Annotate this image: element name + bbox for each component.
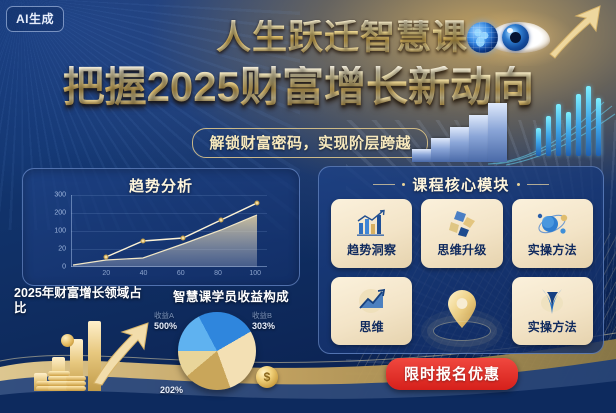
growth-block-title: 2025年财富增长领域占比 [14, 286, 150, 316]
pin-ripple [433, 321, 491, 341]
page-title-line1: 人生跃迁智慧课 [216, 20, 468, 55]
wealth-growth-block: 2025年财富增长领域占比 [0, 282, 160, 413]
module-card-practical-method[interactable]: 实操方法 [512, 199, 593, 268]
pie-block-title: 智慧课学员收益构成 [152, 286, 310, 305]
module-label: 思维升级 [437, 241, 486, 258]
bar-chart-icon [355, 209, 389, 239]
ai-generated-badge: AI生成 [6, 6, 64, 32]
trend-series-paths [71, 195, 267, 267]
trend-arrow-circle-icon [355, 286, 389, 316]
revenue-composition-block: 智慧课学员收益构成 收益A 500% 收益B 303% 202% $ [152, 282, 310, 413]
page-subtitle: 解锁财富密码，实现阶层跨越 [192, 128, 428, 158]
y-tick-label: 20 [58, 246, 66, 253]
poster-canvas: AI生成 [0, 0, 616, 413]
puzzle-pieces-icon [445, 209, 479, 239]
module-label: 趋势洞察 [347, 241, 396, 258]
pie-slice-label: 202% [160, 385, 183, 395]
data-point [255, 200, 260, 205]
ascending-stairs-icon [410, 86, 530, 162]
heading-line-left [373, 184, 395, 185]
heading-dot-right [517, 183, 520, 186]
module-label: 实操方法 [528, 318, 577, 335]
pie-slice-label: 收益A 500% [154, 310, 177, 331]
dollar-coin-icon: $ [256, 366, 278, 388]
growth-arrow-icon [88, 321, 152, 387]
globe-icon [467, 22, 498, 53]
up-arrow-icon [546, 2, 604, 60]
data-point [140, 239, 145, 244]
module-card-location[interactable] [421, 277, 502, 346]
limited-time-offer-badge[interactable]: 限时报名优惠 [386, 358, 518, 390]
cyan-bar-chart-icon [536, 82, 608, 162]
heading-dot-left [402, 183, 405, 186]
modules-heading: 课程核心模块 [412, 174, 509, 195]
y-tick-label: 100 [54, 228, 66, 235]
pie-chart [178, 312, 256, 390]
data-point [103, 254, 108, 259]
x-tick-label: 60 [177, 270, 185, 277]
module-card-mindset[interactable]: 思维 [331, 277, 412, 346]
trend-analysis-card: 趋势分析 300 200 100 20 0 20 40 60 80 100 [22, 168, 300, 286]
pie-slice-label: 收益B 303% [252, 310, 275, 331]
module-card-mindset-upgrade[interactable]: 思维升级 [421, 199, 502, 268]
module-label: 实操方法 [528, 241, 577, 258]
eye-iris [502, 24, 529, 51]
atom-network-icon [535, 209, 569, 239]
x-tick-label: 40 [140, 270, 148, 277]
course-modules-card: 课程核心模块 趋势洞察 [318, 166, 604, 354]
x-tick-label: 20 [102, 270, 110, 277]
module-label: 思维 [359, 318, 384, 335]
x-tick-label: 100 [249, 270, 261, 277]
ribbon-check-icon [535, 286, 569, 316]
module-card-practical-method-2[interactable]: 实操方法 [512, 277, 593, 346]
heading-line-right [527, 184, 549, 185]
module-card-trend-insight[interactable]: 趋势洞察 [331, 199, 412, 268]
y-tick-label: 200 [54, 210, 66, 217]
trend-line-chart: 300 200 100 20 0 20 40 60 80 100 [71, 195, 267, 267]
poster-header: 人生跃迁智慧课 把握2025财富增长新动向 解锁财富密码，实现阶层跨越 [0, 0, 616, 166]
data-point [218, 218, 223, 223]
y-tick-label: 300 [54, 192, 66, 199]
modules-grid: 趋势洞察 思维升级 [331, 199, 593, 345]
y-tick-label: 0 [62, 264, 66, 271]
modules-heading-row: 课程核心模块 [319, 174, 603, 195]
data-point [180, 236, 185, 241]
x-tick-label: 80 [214, 270, 222, 277]
